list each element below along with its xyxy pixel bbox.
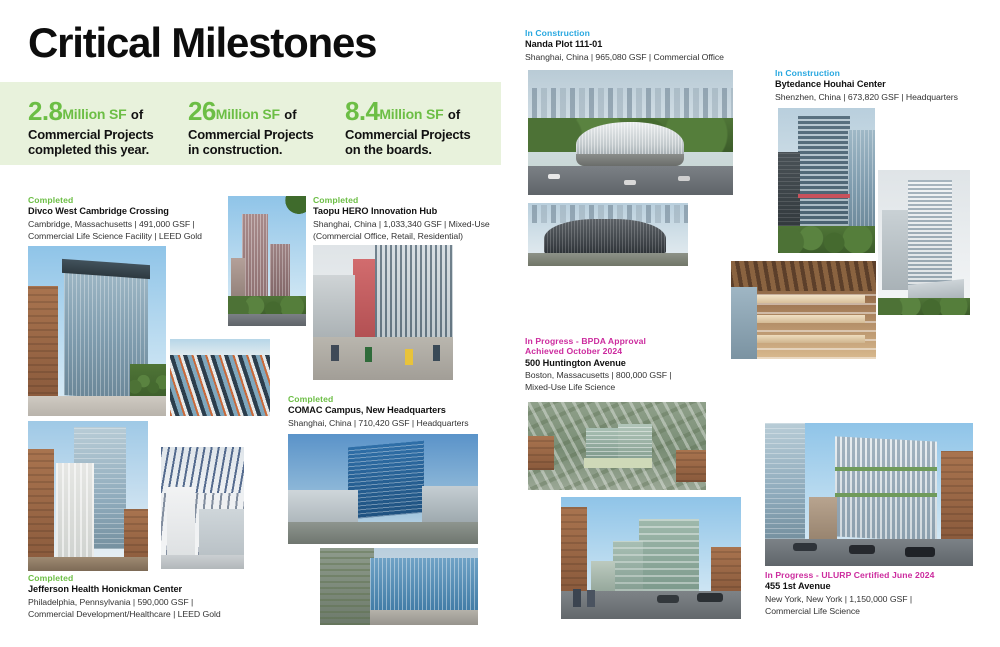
photo-curved-tower [348,441,424,520]
photo-vehicle [793,543,817,551]
project-name: 500 Huntington Avenue [525,358,710,370]
photo-comac-campus [288,434,478,544]
status-label: In Progress - BPDA Approval Achieved Oct… [525,336,710,357]
photo-vehicle [697,593,723,602]
photo-tree-branches [320,548,374,625]
project-name: Bytedance Houhai Center [775,79,990,91]
photo-vehicle [905,547,935,557]
photo-historic-building [28,449,54,567]
photo-floor-plate [743,335,865,343]
photo-main-tower [835,436,937,541]
photo-floor-plate [743,295,865,303]
status-label: In Construction [775,68,990,78]
photo-adjacent-building [28,286,58,401]
photo-taopu-streetscape [313,245,453,380]
caption-455-first-avenue: In Progress - ULURP Certified June 2024 … [765,570,990,617]
photo-ground [288,522,478,544]
caption-comac: Completed COMAC Campus, New Headquarters… [288,394,508,430]
photo-glass-facade [370,558,478,614]
photo-context-building [528,436,554,470]
photo-bytedance-tower-alternate [878,170,970,315]
photo-secondary-tower [613,541,643,591]
photo-red-accent-wall [353,259,375,341]
photo-ground [370,610,478,625]
photo-city-skyline [528,88,733,122]
project-name: Taopu HERO Innovation Hub [313,206,508,218]
status-label: Completed [28,195,258,205]
caption-taopu: Completed Taopu HERO Innovation Hub Shan… [313,195,508,242]
project-name: 455 1st Avenue [765,581,990,593]
photo-building-base [576,154,684,166]
photo-tower-primary [242,214,268,306]
photo-main-tower [798,116,850,231]
photo-green-terrace [835,493,937,497]
stat-block-construction: 26Million SF of Commercial Projects in c… [188,98,314,158]
project-meta: New York, New York | 1,150,000 GSF | Com… [765,594,990,617]
status-label: Completed [288,394,508,404]
photo-slim-tower [908,180,952,288]
project-name: Nanda Plot 111-01 [525,39,775,51]
page-title: Critical Milestones [28,22,376,64]
status-label: Completed [28,573,278,583]
stat-headline: 26Million SF of [188,98,314,124]
photo-site-ground [528,253,688,266]
stat-number: 2.8 [28,96,62,126]
photo-taopu-towers [228,196,306,326]
photo-proposed-building [586,428,622,460]
critical-milestones-page: Critical Milestones 2.8Million SF of Com… [0,0,1000,647]
project-name: Jefferson Health Honickman Center [28,584,278,596]
photo-vehicle [678,176,690,181]
photo-context-lowrise [809,497,837,541]
caption-divco-west: Completed Divco West Cambridge Crossing … [28,195,258,242]
photo-huntington-aerial [528,402,706,490]
photo-person [405,349,413,365]
stat-unit: Million SF [216,106,280,122]
photo-interior-wall [167,487,195,563]
photo-context-building-left [765,423,805,539]
stat-unit: Million SF [62,106,126,122]
stat-description: Commercial Projects completed this year. [28,127,154,158]
photo-context-building-right [941,451,973,543]
photo-lowrise [591,561,615,591]
photo-street [28,557,148,571]
photo-main-tower [639,519,699,591]
stat-headline: 8.4Million SF of [345,98,471,124]
photo-nanda-construction [528,203,688,266]
photo-road [228,314,306,326]
photo-proposed-building [618,424,652,460]
photo-oval-building [544,219,666,255]
photo-person [587,590,595,607]
photo-context-building-left [561,507,587,593]
photo-facade-fins [170,347,270,416]
photo-divco-west-exterior [28,246,166,416]
photo-person [573,589,581,607]
photo-vehicle [548,174,560,179]
photo-podium [313,275,355,341]
photo-person [365,347,372,362]
status-label: In Progress - ULURP Certified June 2024 [765,570,990,580]
photo-landscape-podium [584,458,652,468]
photo-context-tower-right [848,130,875,234]
project-meta: Philadelphia, Pennsylvania | 590,000 GSF… [28,597,278,620]
photo-person [433,345,440,361]
photo-sky-strip [170,339,270,355]
photo-green-terrace [835,467,937,471]
project-meta: Shanghai, China | 710,420 GSF | Headquar… [288,418,508,430]
photo-455-first-avenue [765,423,973,566]
stat-number: 26 [188,96,216,126]
stat-unit: Million SF [379,106,443,122]
photo-comac-entry [320,548,478,625]
stat-description: Commercial Projects on the boards. [345,127,471,158]
stat-number: 8.4 [345,96,379,126]
photo-low-wing [422,486,478,526]
photo-jefferson-exterior [28,421,148,571]
photo-tower-stone [56,463,94,561]
stat-block-boards: 8.4Million SF of Commercial Projects on … [345,98,471,158]
stat-of: of [131,107,143,122]
photo-vehicle [657,595,679,603]
stat-block-completed: 2.8Million SF of Commercial Projects com… [28,98,154,158]
photo-red-accent-band [798,194,850,198]
photo-vehicle [624,180,636,185]
photo-landscape [778,226,875,253]
stat-description: Commercial Projects in construction. [188,127,314,158]
caption-500-huntington: In Progress - BPDA Approval Achieved Oct… [525,336,710,394]
photo-bytedance-interior [731,261,876,359]
status-label: In Construction [525,28,775,38]
project-name: COMAC Campus, New Headquarters [288,405,508,417]
photo-nanda-aerial-render [528,70,733,195]
caption-bytedance: In Construction Bytedance Houhai Center … [775,68,990,104]
project-meta: Shanghai, China | 965,080 GSF | Commerci… [525,52,775,64]
photo-floor-plate [743,315,865,323]
project-meta: Shenzhen, China | 673,820 GSF | Headquar… [775,92,990,104]
stat-of: of [448,107,460,122]
photo-plaza [28,396,166,416]
photo-context-tower-left [778,152,800,234]
caption-jefferson: Completed Jefferson Health Honickman Cen… [28,573,278,620]
photo-huntington-street-level [561,497,741,619]
photo-view-to-city [731,287,757,359]
project-name: Divco West Cambridge Crossing [28,206,258,218]
photo-context-building-right [711,547,741,595]
photo-bytedance-tower [778,108,875,253]
photo-landscape [878,298,970,315]
photo-divco-west-facade-detail [170,339,270,416]
project-meta: Boston, Massacusetts | 800,000 GSF | Mix… [525,370,710,393]
photo-interior-floor [161,555,244,569]
photo-person [331,345,339,361]
stat-of: of [284,107,296,122]
project-meta: Shanghai, China | 1,033,340 GSF | Mixed-… [313,219,508,242]
caption-nanda: In Construction Nanda Plot 111-01 Shangh… [525,28,775,64]
statistics-band: 2.8Million SF of Commercial Projects com… [0,82,501,165]
photo-glass-block [375,245,453,341]
photo-context-building [882,210,908,290]
photo-foliage [282,196,306,218]
photo-jefferson-interior [161,447,244,569]
stat-headline: 2.8Million SF of [28,98,154,124]
photo-context-building [676,450,706,482]
status-label: Completed [313,195,508,205]
project-meta: Cambridge, Massachusetts | 491,000 GSF |… [28,219,258,242]
photo-vehicle [849,545,875,554]
